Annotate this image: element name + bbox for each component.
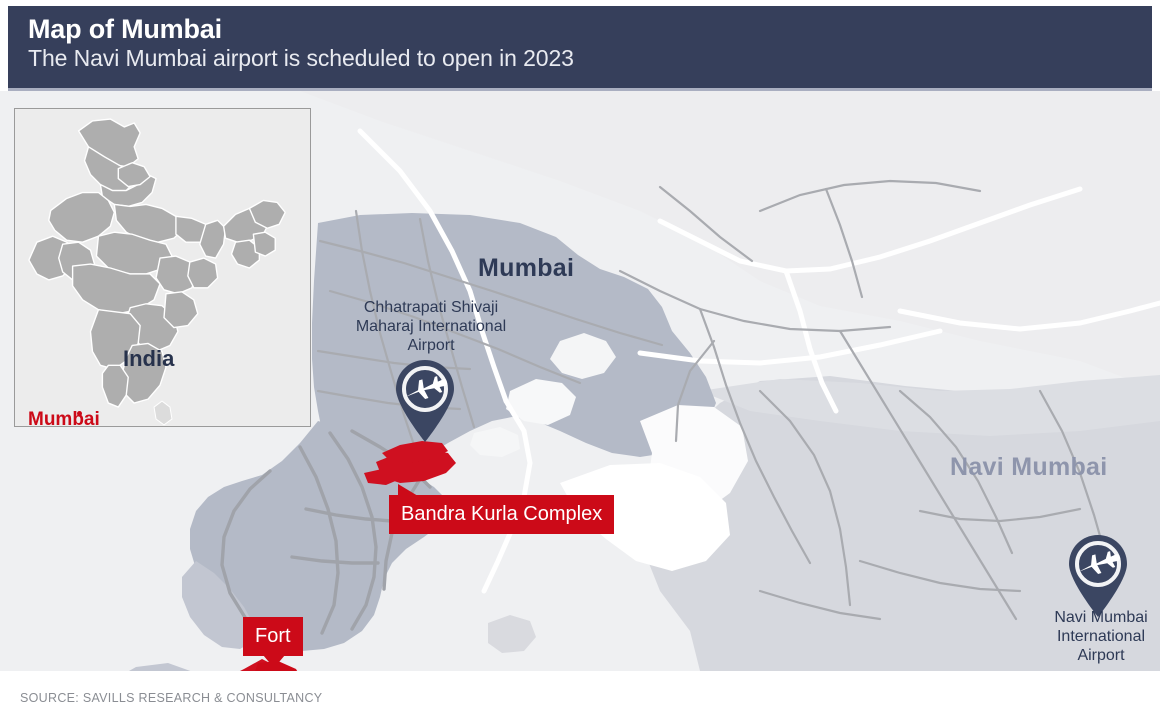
callout-tail <box>398 484 418 496</box>
airport-label-csmia-line3: Airport <box>341 336 521 355</box>
callout-fort-label: Fort <box>255 625 291 647</box>
inset-label-india: India <box>123 346 174 372</box>
inset-map-india[interactable]: India Mumbai <box>14 108 311 427</box>
airport-label-csmia: Chhatrapati Shivaji Maharaj Internationa… <box>341 298 521 355</box>
page-title: Map of Mumbai <box>28 14 1152 44</box>
header-banner: Map of Mumbai The Navi Mumbai airport is… <box>8 6 1152 88</box>
inset-label-mumbai: Mumbai <box>28 409 100 427</box>
airport-label-nmia-line3: Airport <box>1011 646 1160 665</box>
airport-label-csmia-line2: Maharaj International <box>341 317 521 336</box>
callout-tail <box>263 655 285 668</box>
airplane-pin-icon <box>1065 534 1131 618</box>
page-subtitle: The Navi Mumbai airport is scheduled to … <box>28 44 1152 72</box>
callout-bandra-kurla-complex[interactable]: Bandra Kurla Complex <box>389 495 614 534</box>
region-label-navi-mumbai: Navi Mumbai <box>950 453 1108 482</box>
airport-label-csmia-line1: Chhatrapati Shivaji <box>341 298 521 317</box>
airport-label-nmia: Navi Mumbai International Airport <box>1011 608 1160 665</box>
airport-pin-nmia[interactable] <box>1065 534 1131 618</box>
airport-label-nmia-line1: Navi Mumbai <box>1011 608 1160 627</box>
airport-label-nmia-line2: International <box>1011 627 1160 646</box>
airplane-pin-icon <box>392 359 458 443</box>
map-canvas[interactable]: India Mumbai Mumbai Navi Mumbai Chhatrap… <box>0 91 1160 671</box>
callout-bandra-kurla-complex-label: Bandra Kurla Complex <box>401 503 602 525</box>
callout-fort[interactable]: Fort <box>243 617 303 656</box>
source-note: SOURCE: SAVILLS RESEARCH & CONSULTANCY <box>20 691 322 705</box>
inset-map-geometry <box>15 109 310 426</box>
infographic-root: Map of Mumbai The Navi Mumbai airport is… <box>0 0 1160 715</box>
airport-pin-csmia[interactable] <box>392 359 458 443</box>
region-label-mumbai: Mumbai <box>478 254 574 283</box>
